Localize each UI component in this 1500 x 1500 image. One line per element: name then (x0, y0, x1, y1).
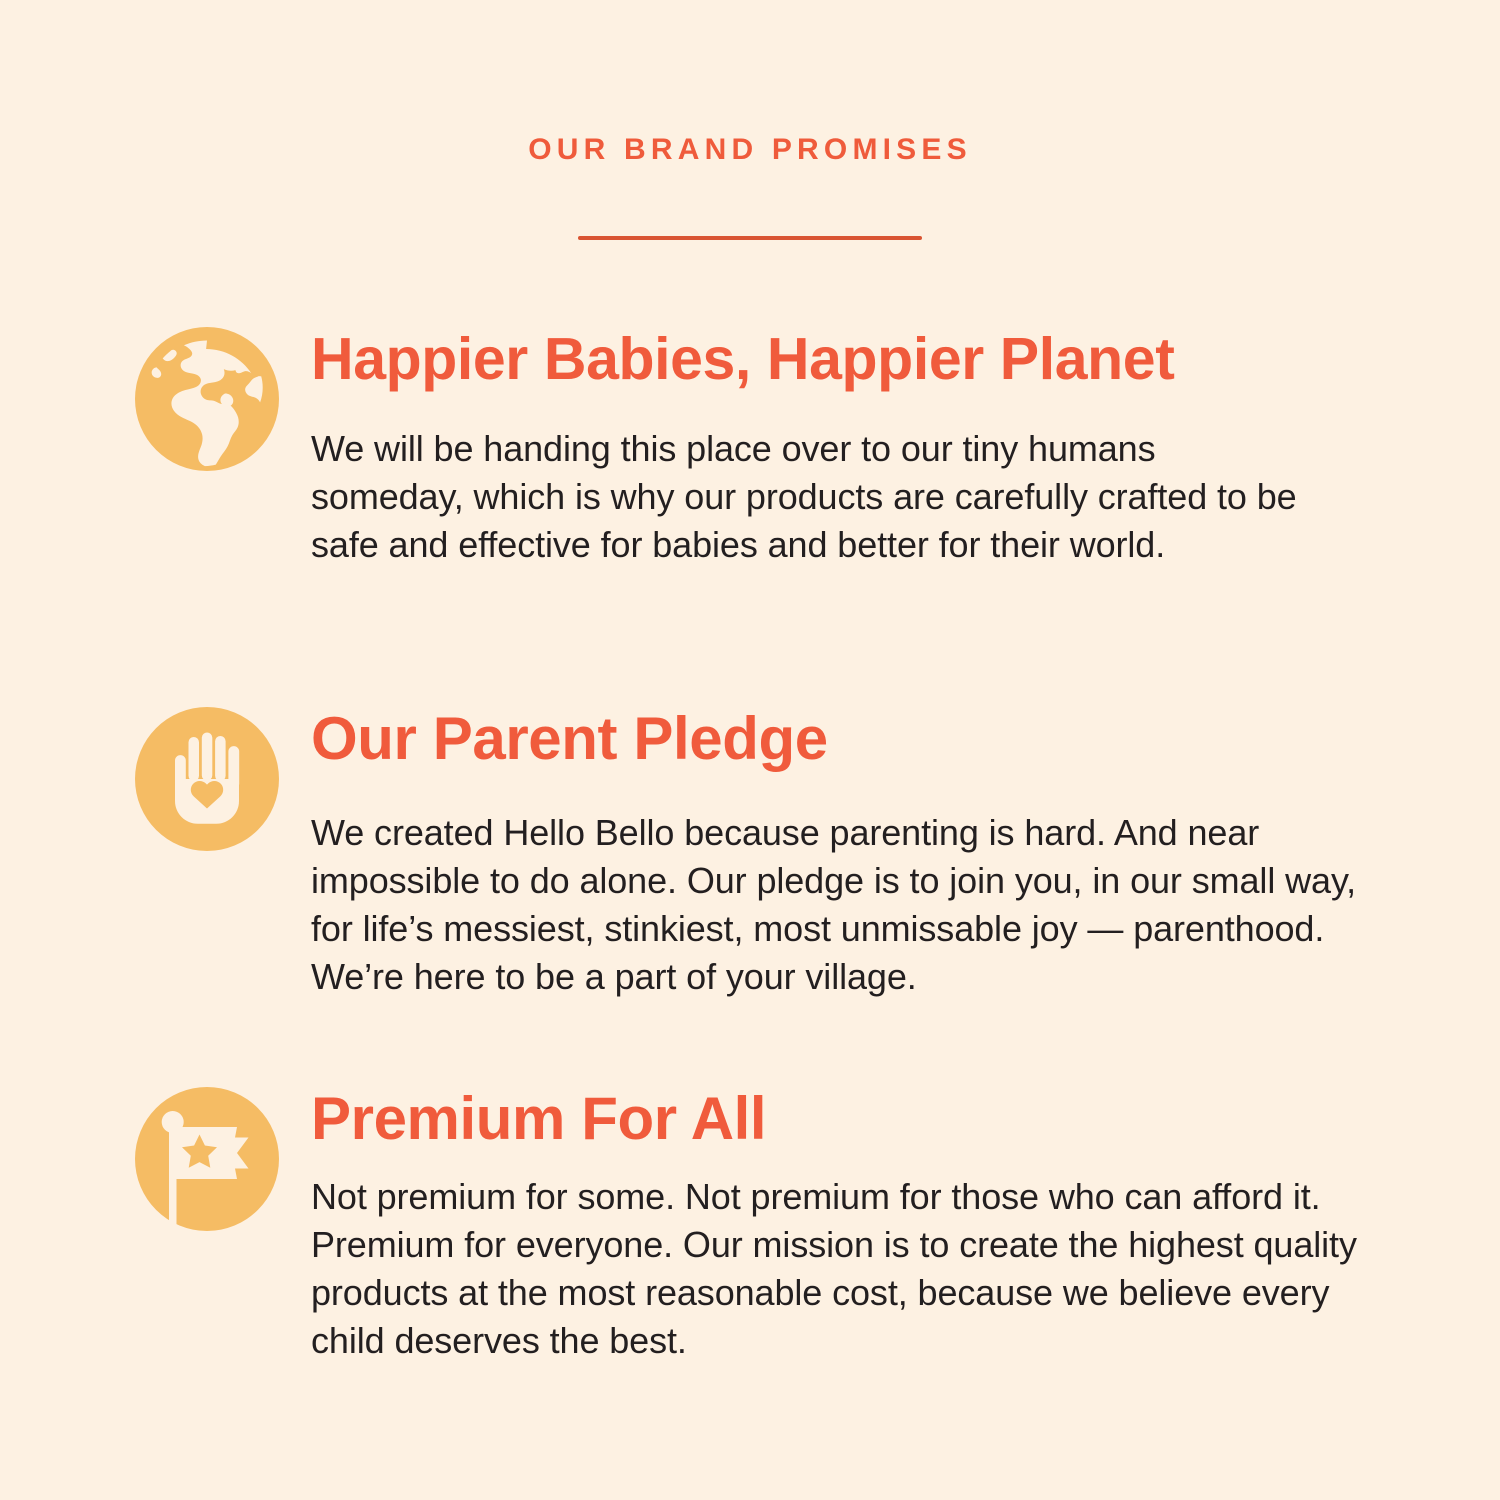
promise-content: Our Parent Pledge We created Hello Bello… (311, 707, 1375, 1001)
promise-title: Happier Babies, Happier Planet (311, 327, 1375, 391)
promise-item: Happier Babies, Happier Planet We will b… (135, 327, 1375, 569)
hand-heart-icon (135, 707, 279, 867)
promise-item: Our Parent Pledge We created Hello Bello… (135, 707, 1375, 1001)
promise-item: Premium For All Not premium for some. No… (135, 1087, 1375, 1365)
promise-content: Happier Babies, Happier Planet We will b… (311, 327, 1375, 569)
globe-icon (135, 327, 279, 487)
promise-description: Not premium for some. Not premium for th… (311, 1173, 1373, 1365)
promise-title: Our Parent Pledge (311, 707, 1375, 771)
promise-content: Premium For All Not premium for some. No… (311, 1087, 1375, 1365)
promise-description: We will be handing this place over to ou… (311, 425, 1316, 569)
flag-star-icon (135, 1087, 279, 1247)
brand-promises-page: OUR BRAND PROMISES Happier Babies, Happi… (0, 0, 1500, 1500)
page-eyebrow-heading: OUR BRAND PROMISES (0, 132, 1500, 168)
promise-description: We created Hello Bello because parenting… (311, 809, 1381, 1001)
promise-title: Premium For All (311, 1087, 1375, 1151)
header-divider (578, 236, 922, 240)
